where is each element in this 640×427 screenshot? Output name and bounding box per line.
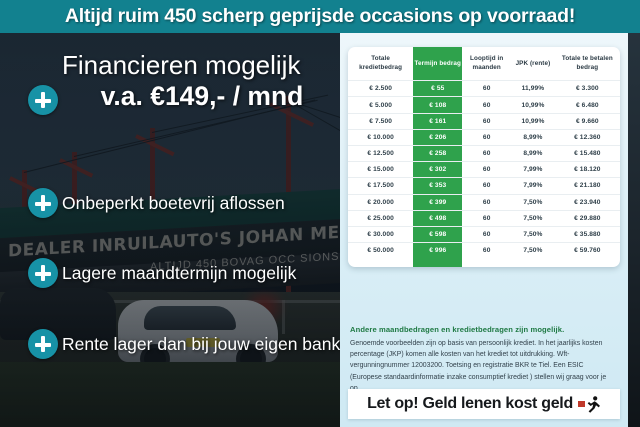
table-cell-r2-c2: 60 xyxy=(462,113,511,129)
plus-icon xyxy=(28,258,58,288)
table-row: € 2.500€ 556011,99%€ 3.300 xyxy=(348,81,620,97)
table-cell-r10-c2: 60 xyxy=(462,243,511,259)
promo-column: Financieren mogelijk v.a. €149,- / mnd O… xyxy=(0,33,345,427)
table-cell-r5-c1: € 302 xyxy=(413,162,462,178)
table-cell-r7-c2: 60 xyxy=(462,194,511,210)
highlight-column-tail xyxy=(348,258,620,267)
table-cell-r3-c0: € 10.000 xyxy=(348,129,413,145)
table-cell-r1-c4: € 6.480 xyxy=(555,97,620,113)
table-cell-r10-c3: 7,50% xyxy=(511,243,555,259)
table-cell-r0-c1: € 55 xyxy=(413,81,462,97)
table-cell-r2-c4: € 9.660 xyxy=(555,113,620,129)
table-cell-r6-c1: € 353 xyxy=(413,178,462,194)
table-cell-r2-c3: 10,99% xyxy=(511,113,555,129)
table-cell-r3-c1: € 206 xyxy=(413,129,462,145)
promo-bullet-2: Lagere maandtermijn mogelijk xyxy=(62,263,296,284)
table-cell-r4-c1: € 258 xyxy=(413,146,462,162)
promo-headline: Financieren mogelijk v.a. €149,- / mnd xyxy=(62,51,342,112)
table-header-cell-1: Termijn bedrag xyxy=(413,47,462,81)
table-cell-r7-c1: € 399 xyxy=(413,194,462,210)
table-cell-r9-c3: 7,50% xyxy=(511,226,555,242)
table-cell-r4-c3: 8,99% xyxy=(511,146,555,162)
legal-warning-bar: Let op! Geld lenen kost geld xyxy=(348,389,620,419)
plus-icon xyxy=(28,85,58,115)
table-cell-r8-c1: € 498 xyxy=(413,210,462,226)
table-body: € 2.500€ 556011,99%€ 3.300€ 5.000€ 10860… xyxy=(348,81,620,259)
legal-warning-text: Let op! Geld lenen kost geld xyxy=(367,395,573,413)
loan-table-card: Totale kredietbedragTermijn bedragLoopti… xyxy=(348,47,620,267)
plus-icon xyxy=(28,329,58,359)
walking-person-icon xyxy=(578,396,601,413)
table-cell-r6-c4: € 21.180 xyxy=(555,178,620,194)
table-row: € 7.500€ 1616010,99%€ 9.660 xyxy=(348,113,620,129)
table-row: € 15.000€ 302607,99%€ 18.120 xyxy=(348,162,620,178)
table-cell-r5-c4: € 18.120 xyxy=(555,162,620,178)
table-row: € 50.000€ 996607,50%€ 59.760 xyxy=(348,243,620,259)
table-cell-r9-c2: 60 xyxy=(462,226,511,242)
table-cell-r8-c3: 7,50% xyxy=(511,210,555,226)
table-cell-r8-c0: € 25.000 xyxy=(348,210,413,226)
table-row: € 30.000€ 598607,50%€ 35.880 xyxy=(348,226,620,242)
table-row: € 20.000€ 399607,50%€ 23.940 xyxy=(348,194,620,210)
table-cell-r0-c4: € 3.300 xyxy=(555,81,620,97)
top-banner: Altijd ruim 450 scherp geprijsde occasio… xyxy=(0,0,640,33)
table-cell-r1-c2: 60 xyxy=(462,97,511,113)
table-cell-r0-c3: 11,99% xyxy=(511,81,555,97)
disclaimer-heading: Andere maandbedragen en kredietbedragen … xyxy=(350,325,618,334)
table-cell-r2-c1: € 161 xyxy=(413,113,462,129)
disclaimer-body: Genoemde voorbeelden zijn op basis van p… xyxy=(350,338,616,394)
promo-bullet-3: Rente lager dan bij jouw eigen bank xyxy=(62,334,340,355)
table-row: € 12.500€ 258608,99%€ 15.480 xyxy=(348,146,620,162)
table-row: € 25.000€ 498607,50%€ 29.880 xyxy=(348,210,620,226)
table-cell-r1-c3: 10,99% xyxy=(511,97,555,113)
table-cell-r5-c2: 60 xyxy=(462,162,511,178)
table-row: € 17.500€ 353607,99%€ 21.180 xyxy=(348,178,620,194)
plus-icon xyxy=(28,188,58,218)
table-cell-r6-c0: € 17.500 xyxy=(348,178,413,194)
table-cell-r3-c2: 60 xyxy=(462,129,511,145)
promo-headline-line2: v.a. €149,- / mnd xyxy=(62,82,342,112)
table-cell-r0-c0: € 2.500 xyxy=(348,81,413,97)
table-cell-r7-c3: 7,50% xyxy=(511,194,555,210)
table-cell-r1-c1: € 108 xyxy=(413,97,462,113)
finance-info-panel: Totale kredietbedragTermijn bedragLoopti… xyxy=(340,33,628,427)
table-cell-r10-c1: € 996 xyxy=(413,243,462,259)
table-cell-r0-c2: 60 xyxy=(462,81,511,97)
table-cell-r7-c4: € 23.940 xyxy=(555,194,620,210)
advertisement-banner: DEALER INRUILAUTO'S JOHAN MEURE ALTIJD 4… xyxy=(0,0,640,427)
table-cell-r10-c4: € 59.760 xyxy=(555,243,620,259)
table-cell-r6-c2: 60 xyxy=(462,178,511,194)
table-cell-r3-c3: 8,99% xyxy=(511,129,555,145)
table-cell-r9-c4: € 35.880 xyxy=(555,226,620,242)
table-cell-r4-c2: 60 xyxy=(462,146,511,162)
table-header-cell-3: JPK (rente) xyxy=(511,47,555,81)
table-cell-r8-c2: 60 xyxy=(462,210,511,226)
top-banner-text: Altijd ruim 450 scherp geprijsde occasio… xyxy=(0,0,640,33)
table-cell-r6-c3: 7,99% xyxy=(511,178,555,194)
table-cell-r2-c0: € 7.500 xyxy=(348,113,413,129)
table-header-cell-4: Totale te betalen bedrag xyxy=(555,47,620,81)
table-cell-r4-c4: € 15.480 xyxy=(555,146,620,162)
table-cell-r5-c0: € 15.000 xyxy=(348,162,413,178)
table-row: € 5.000€ 1086010,99%€ 6.480 xyxy=(348,97,620,113)
table-cell-r8-c4: € 29.880 xyxy=(555,210,620,226)
table-cell-r7-c0: € 20.000 xyxy=(348,194,413,210)
table-cell-r5-c3: 7,99% xyxy=(511,162,555,178)
table-cell-r3-c4: € 12.360 xyxy=(555,129,620,145)
promo-bullet-1: Onbeperkt boetevrij aflossen xyxy=(62,193,285,214)
table-cell-r10-c0: € 50.000 xyxy=(348,243,413,259)
table-cell-r4-c0: € 12.500 xyxy=(348,146,413,162)
table-header-row: Totale kredietbedragTermijn bedragLoopti… xyxy=(348,47,620,81)
table-row: € 10.000€ 206608,99%€ 12.360 xyxy=(348,129,620,145)
table-cell-r1-c0: € 5.000 xyxy=(348,97,413,113)
table-cell-r9-c1: € 598 xyxy=(413,226,462,242)
promo-headline-line1: Financieren mogelijk xyxy=(62,50,300,80)
table-header-cell-0: Totale kredietbedrag xyxy=(348,47,413,81)
table-header-cell-2: Looptijd in maanden xyxy=(462,47,511,81)
table-cell-r9-c0: € 30.000 xyxy=(348,226,413,242)
loan-table: Totale kredietbedragTermijn bedragLoopti… xyxy=(348,47,620,258)
right-edge-strip xyxy=(628,33,640,427)
